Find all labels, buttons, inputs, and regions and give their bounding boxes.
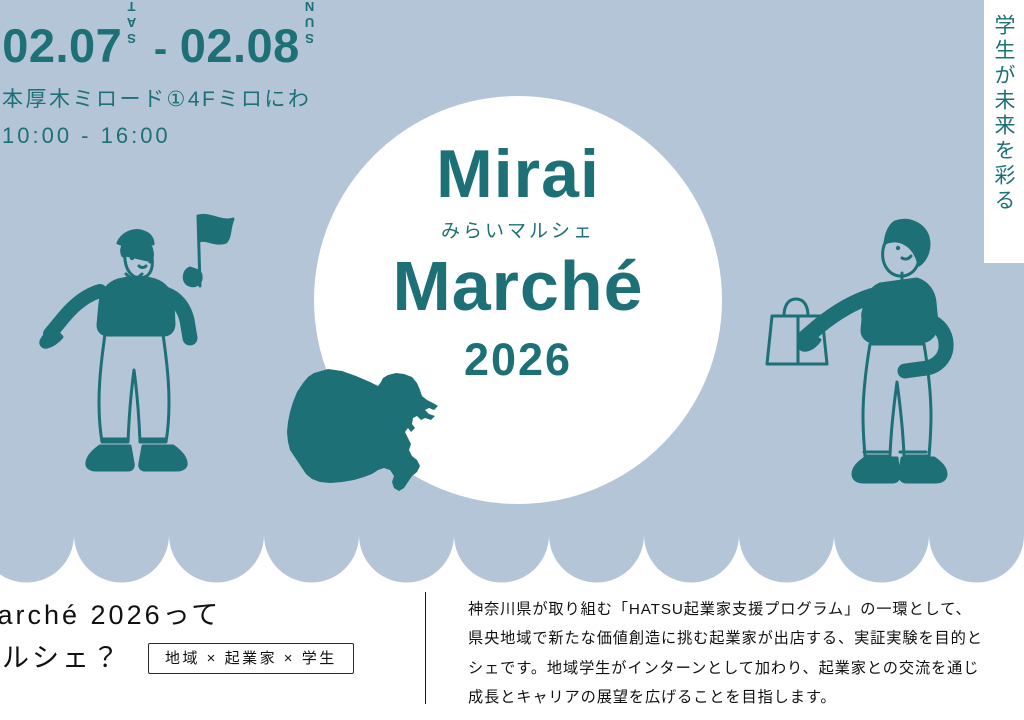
event-date-dash: -: [154, 27, 168, 72]
event-venue-text: 本厚木ミロード①4Fミロにわ: [2, 83, 311, 113]
scalloped-wave-divider: [0, 495, 1024, 585]
vertical-divider: [425, 592, 426, 704]
event-time-text: 10:00 - 16:00: [2, 123, 171, 149]
event-venue-line: 本厚木ミロード①4Fミロにわ: [0, 83, 430, 113]
description-line: シェです。地域学生がインターンとして加わり、起業家との交流を通じ: [468, 654, 1024, 683]
event-date-end-dow: SUN: [303, 0, 318, 46]
description-line: 成長とキャリアの展望を広げることを目指します。: [468, 683, 1024, 712]
description-line: 県央地域で新たな価値創造に挑む起業家が出店する、実証実験を目的と: [468, 624, 1024, 653]
event-date-start: 6.02.07: [0, 20, 122, 73]
tagline-vertical-text: 学生が未来を彩る: [989, 14, 1019, 214]
tagline-panel: 学生が未来を彩る: [984, 0, 1024, 263]
person-with-shopping-bag-illustration: [752, 204, 982, 496]
logo-title-en: Mirai: [314, 140, 722, 208]
description-block: 神奈川県が取り組む「HATSU起業家支援プログラム」の一環として、 県央地域で新…: [468, 595, 1024, 712]
question-block: Marché 2026って マルシェ？ 地域 × 起業家 × 学生: [0, 599, 420, 676]
hero-section: 6.02.07 SAT - 02.08 SUN 本厚木ミロード①4Fミロにわ 1…: [0, 0, 1024, 585]
description-line: 神奈川県が取り組む「HATSU起業家支援プログラム」の一環として、: [468, 595, 1024, 624]
bottom-section: Marché 2026って マルシェ？ 地域 × 起業家 × 学生 神奈川県が取…: [0, 585, 1024, 720]
event-date-end: 02.08: [180, 20, 300, 73]
keywords-badge: 地域 × 起業家 × 学生: [148, 643, 354, 674]
person-with-flag-illustration: [10, 196, 260, 496]
kanagawa-prefecture-map-icon: [284, 358, 450, 494]
event-date-start-dow: SAT: [125, 0, 140, 46]
event-logo: Mirai みらいマルシェ Marché 2026: [314, 140, 722, 382]
question-line-2: マルシェ？: [0, 642, 122, 676]
question-line-1: Marché 2026って: [0, 599, 420, 633]
question-row: マルシェ？ 地域 × 起業家 × 学生: [0, 642, 420, 676]
event-info-block: 6.02.07 SAT - 02.08 SUN 本厚木ミロード①4Fミロにわ 1…: [0, 14, 430, 149]
poster-root: 6.02.07 SAT - 02.08 SUN 本厚木ミロード①4Fミロにわ 1…: [0, 0, 1024, 720]
logo-title-kana: みらいマルシェ: [314, 222, 722, 241]
event-date-line: 6.02.07 SAT - 02.08 SUN: [0, 14, 430, 73]
logo-title-fr: Marché: [314, 251, 722, 321]
